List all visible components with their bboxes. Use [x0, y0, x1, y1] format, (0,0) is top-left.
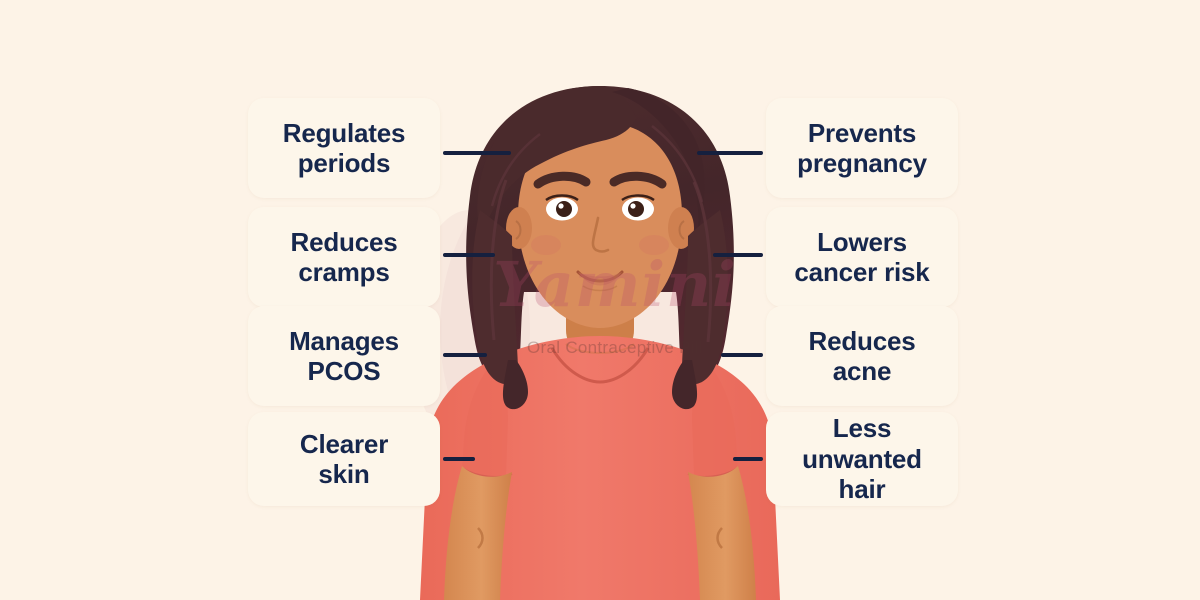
- benefit-line-1: Lowers: [817, 227, 907, 257]
- connector-line-right-4: [733, 457, 763, 461]
- benefit-line-1: Clearer: [300, 429, 388, 459]
- benefit-line-1: Prevents: [808, 118, 916, 148]
- benefit-card-regulates-periods[interactable]: Regulates periods: [248, 98, 440, 198]
- benefit-line-2: hair: [839, 474, 886, 504]
- benefit-card-lowers-cancer-risk[interactable]: Lowers cancer risk: [766, 207, 958, 307]
- benefit-card-prevents-pregnancy[interactable]: Prevents pregnancy: [766, 98, 958, 198]
- benefit-card-reduces-acne[interactable]: Reduces acne: [766, 306, 958, 406]
- benefit-card-label: Less unwanted hair: [780, 413, 944, 504]
- benefit-card-label: Prevents pregnancy: [797, 118, 927, 179]
- connector-line-right-1: [697, 151, 763, 155]
- benefit-line-2: pregnancy: [797, 148, 927, 178]
- woman-illustration: [0, 0, 1200, 600]
- benefit-card-label: Regulates periods: [283, 118, 405, 179]
- connector-line-left-4: [443, 457, 475, 461]
- connector-line-left-1: [443, 151, 511, 155]
- benefit-line-2: cancer risk: [794, 257, 929, 287]
- infographic-canvas: Yamini Oral Contraceptive Pill Regulates…: [0, 0, 1200, 600]
- benefit-card-manages-pcos[interactable]: Manages PCOS: [248, 306, 440, 406]
- benefit-card-label: Lowers cancer risk: [794, 227, 929, 288]
- benefit-line-2: acne: [833, 356, 891, 386]
- connector-line-right-2: [713, 253, 763, 257]
- benefit-card-less-unwanted-hair[interactable]: Less unwanted hair: [766, 412, 958, 506]
- benefit-card-label: Clearer skin: [300, 429, 388, 490]
- benefit-card-label: Reduces acne: [809, 326, 916, 387]
- benefit-line-1: Regulates: [283, 118, 405, 148]
- benefit-line-2: skin: [318, 459, 369, 489]
- connector-line-left-3: [443, 353, 487, 357]
- benefit-line-1: Manages: [289, 326, 399, 356]
- benefit-card-clearer-skin[interactable]: Clearer skin: [248, 412, 440, 506]
- connector-line-left-2: [443, 253, 495, 257]
- benefit-card-label: Manages PCOS: [289, 326, 399, 387]
- benefit-line-1: Less unwanted: [802, 413, 922, 473]
- benefit-line-2: PCOS: [308, 356, 381, 386]
- benefit-line-1: Reduces: [291, 227, 398, 257]
- connector-line-right-3: [721, 353, 763, 357]
- benefit-card-reduces-cramps[interactable]: Reduces cramps: [248, 207, 440, 307]
- benefit-line-1: Reduces: [809, 326, 916, 356]
- benefit-line-2: periods: [298, 148, 391, 178]
- benefit-line-2: cramps: [298, 257, 389, 287]
- benefit-card-label: Reduces cramps: [291, 227, 398, 288]
